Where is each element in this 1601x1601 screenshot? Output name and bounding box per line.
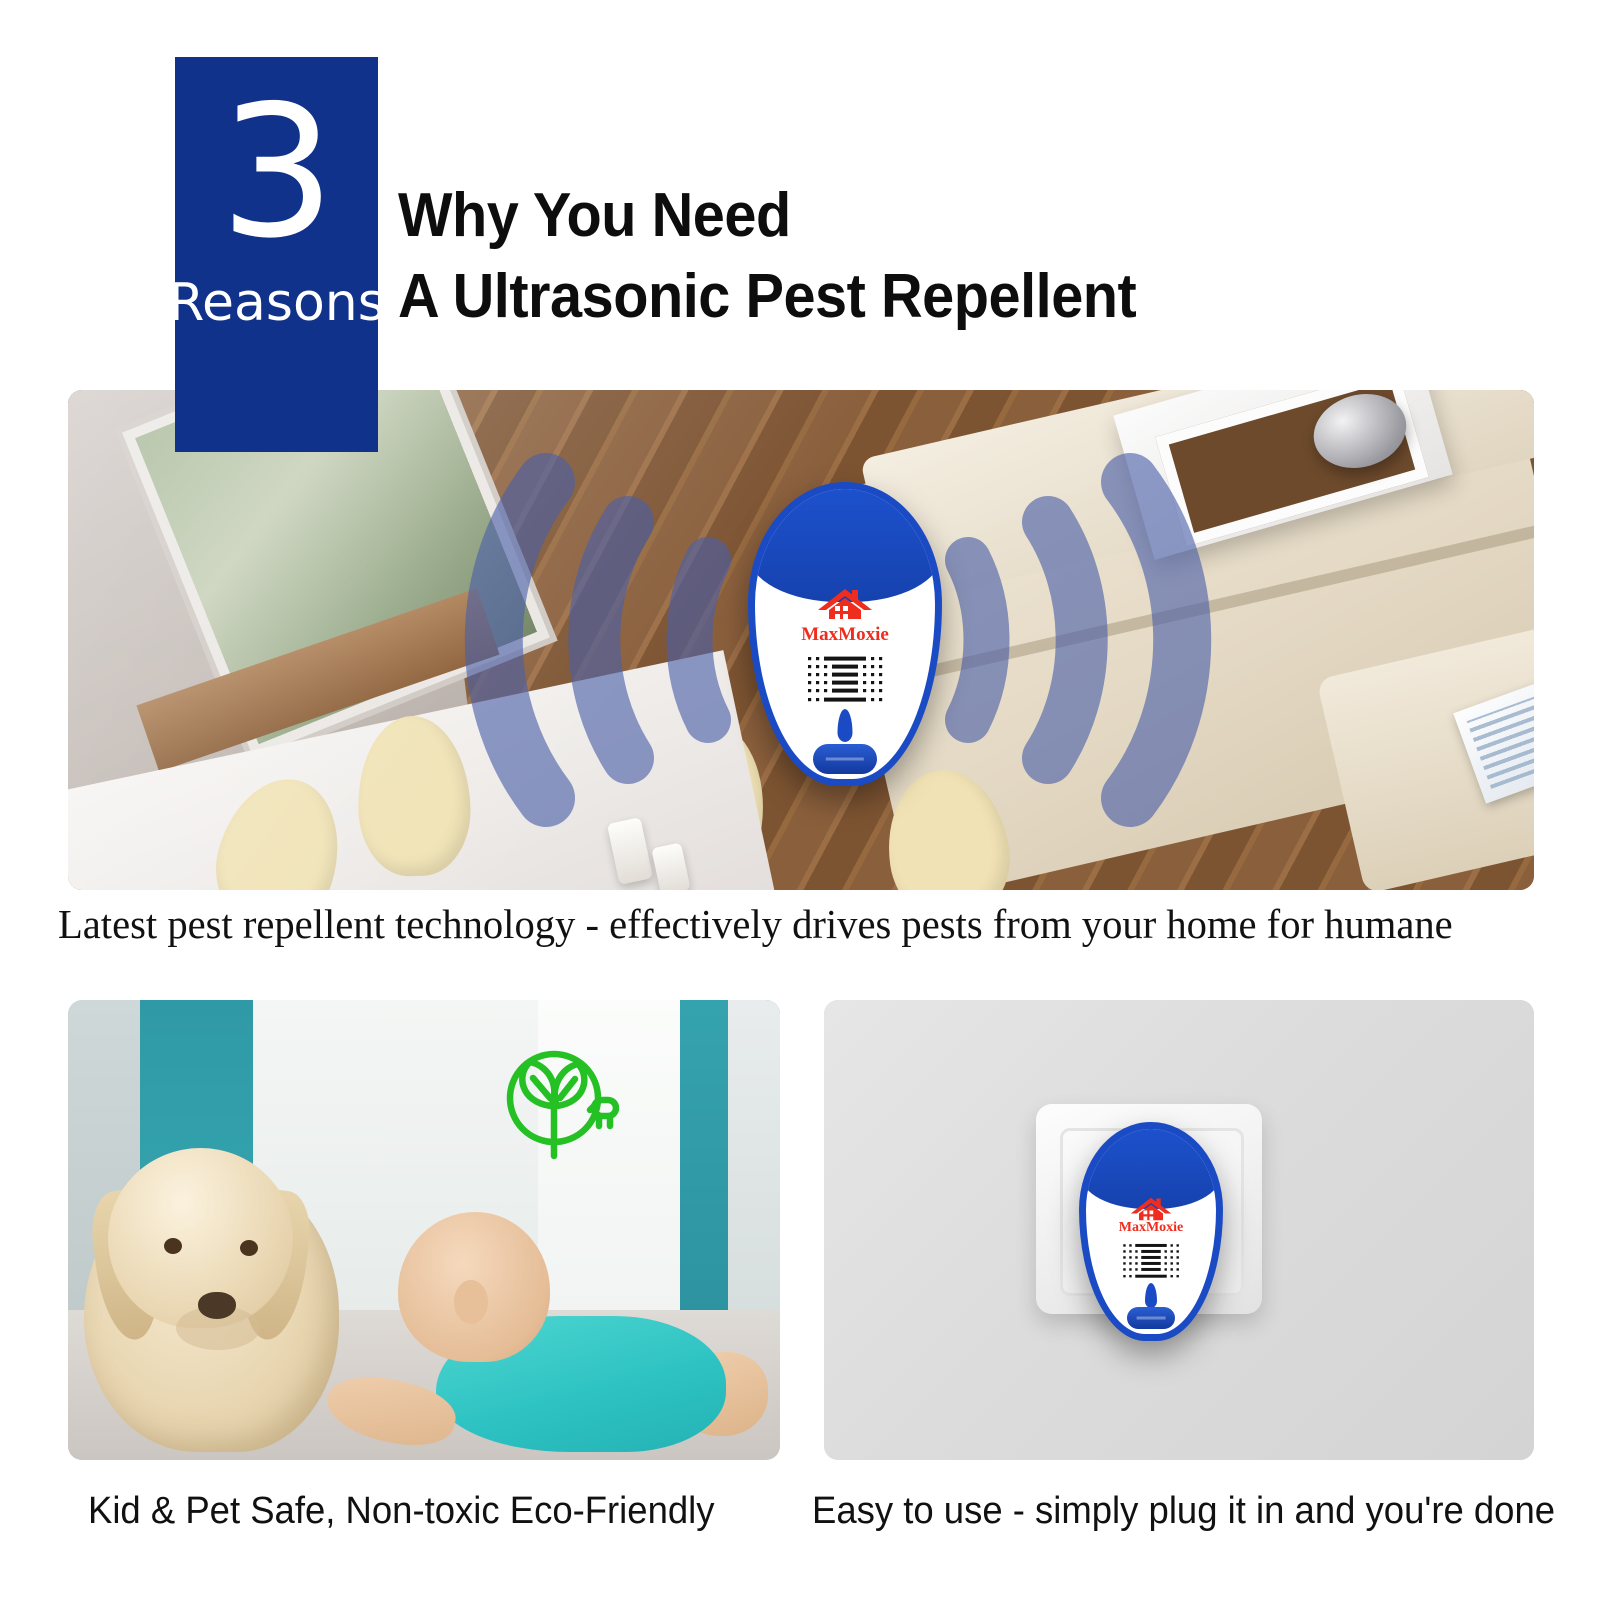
product-infographic: 3 Reasons Why You Need A Ultrasonic Pest… [0,0,1601,1601]
led-indicator [1145,1283,1157,1308]
device-brand-label: MaxMoxie [801,624,889,646]
headline-line-2: A Ultrasonic Pest Repellent [398,257,1136,338]
baby-ear [454,1280,488,1324]
power-button[interactable] [813,744,877,774]
wall-socket-scene: MaxMoxie [824,1000,1534,1460]
easy-plug-image-panel: MaxMoxie [824,1000,1534,1460]
power-button[interactable] [1127,1307,1175,1329]
house-logo-icon [1130,1197,1172,1221]
pet-safe-image-panel [68,1000,780,1460]
hero-caption: Latest pest repellent technology - effec… [58,900,1453,948]
hero-image-panel: MaxMoxie [68,390,1534,890]
dog-eye-left [164,1238,182,1254]
pet-safe-caption: Kid & Pet Safe, Non-toxic Eco-Friendly [88,1490,715,1533]
dog-nose [198,1292,236,1319]
eco-plug-leaf-icon [498,1044,620,1162]
speaker-grille-icon [804,654,886,706]
reasons-badge: 3 Reasons [175,57,378,452]
page-title: Why You Need A Ultrasonic Pest Repellent [398,176,1136,337]
led-indicator [838,709,853,742]
headline-line-1: Why You Need [398,176,1136,257]
badge-label: Reasons [168,277,385,329]
speaker-grille-icon [1120,1242,1182,1281]
baby-and-dog-scene [68,1000,780,1460]
easy-plug-caption: Easy to use - simply plug it in and you'… [812,1490,1555,1533]
badge-number: 3 [220,81,334,263]
dog-eye-right [240,1240,258,1256]
device-brand-label: MaxMoxie [1119,1220,1184,1236]
house-logo-icon [817,588,873,620]
device-blue-cap [748,482,942,602]
